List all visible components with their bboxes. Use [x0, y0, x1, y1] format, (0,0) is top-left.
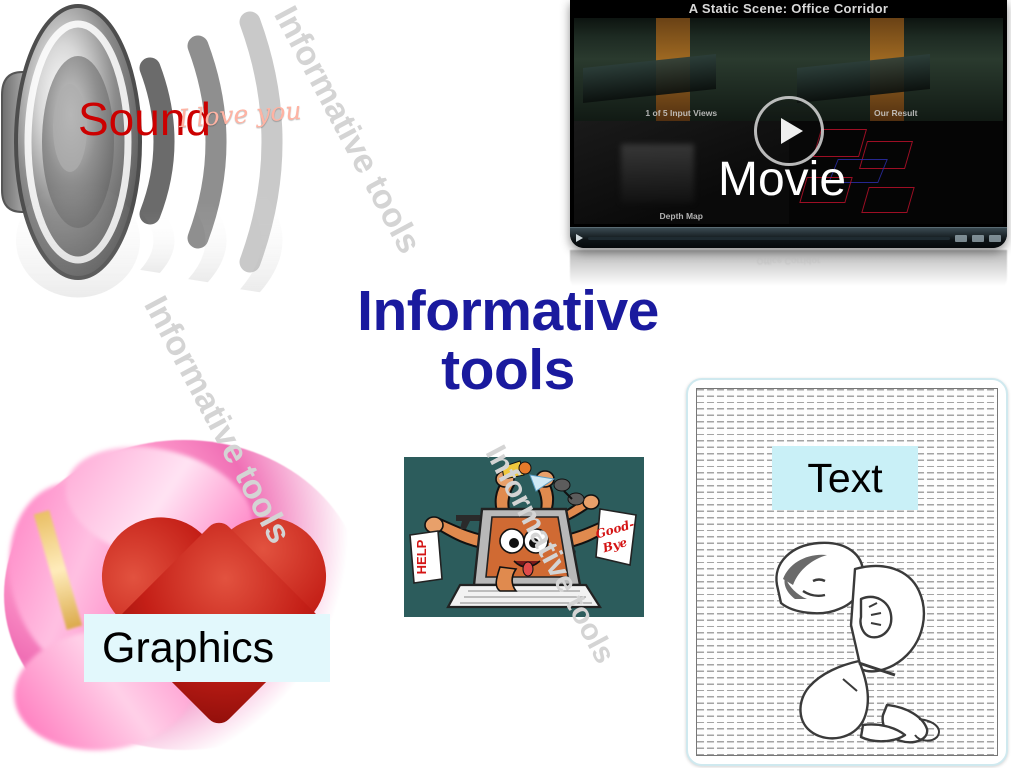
video-label-depth-map: Depth Map: [574, 211, 789, 221]
text-illustration: Text: [686, 378, 1008, 766]
video-quadrant-input-views: 1 of 5 Input Views: [574, 18, 789, 121]
slide-canvas: Sound A Static Scene: Office Corridor 1 …: [0, 0, 1011, 768]
fullscreen-icon[interactable]: [989, 235, 1001, 242]
play-control-icon[interactable]: [576, 234, 583, 242]
seek-slider[interactable]: [588, 237, 950, 240]
text-page-card: [686, 378, 1008, 766]
graphics-label: Graphics: [84, 614, 330, 682]
text-label-text: Text: [807, 458, 882, 499]
wireframe-shape: [861, 187, 914, 213]
movie-illustration: A Static Scene: Office Corridor 1 of 5 I…: [566, 0, 1011, 290]
video-player[interactable]: A Static Scene: Office Corridor 1 of 5 I…: [570, 0, 1007, 248]
video-quadrant-our-result: Our Result: [789, 18, 1004, 121]
title-line-1: Informative: [278, 282, 738, 341]
movie-label: Movie: [718, 156, 846, 204]
graphics-label-text: Graphics: [102, 627, 274, 670]
title-line-2: tools: [278, 341, 738, 400]
svg-text:HELP: HELP: [414, 539, 429, 574]
volume-icon[interactable]: [955, 235, 967, 242]
video-title: A Static Scene: Office Corridor: [570, 1, 1007, 16]
settings-icon[interactable]: [972, 235, 984, 242]
graphics-illustration: [4, 440, 374, 760]
reflection-text: Office Corridor: [570, 256, 1007, 266]
text-page-inner: [696, 388, 998, 756]
player-controls[interactable]: [570, 227, 1007, 248]
text-label: Text: [772, 446, 918, 510]
page-title: Informative tools: [278, 282, 738, 401]
play-triangle: [781, 118, 803, 144]
reader-figure-icon: [743, 529, 981, 755]
